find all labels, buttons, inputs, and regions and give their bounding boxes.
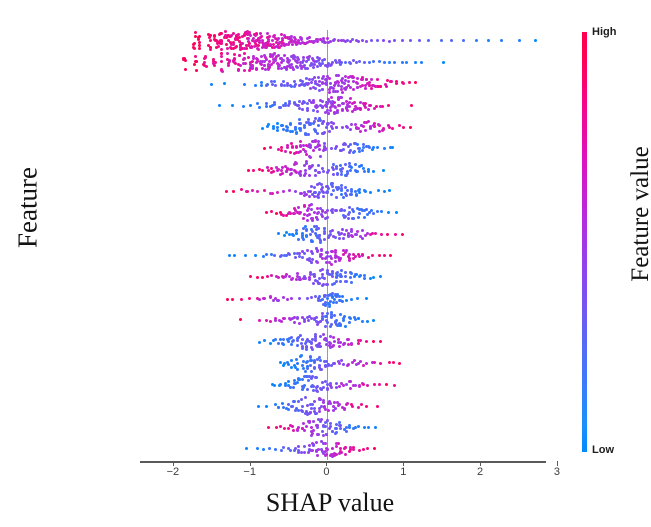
shap-point [308,155,311,158]
shap-point [258,106,261,109]
shap-point [306,214,309,217]
shap-point [258,298,261,301]
shap-point [320,368,323,371]
shap-point [226,298,229,301]
shap-point [389,254,392,257]
shap-point [290,359,293,362]
shap-point [336,80,339,83]
shap-point [343,209,346,212]
shap-point [310,203,313,206]
shap-point [243,83,246,86]
shap-point [355,194,358,197]
shap-point [286,298,289,301]
shap-point [331,345,334,348]
shap-point [344,446,347,449]
shap-point [321,88,324,91]
shap-point [327,363,330,366]
shap-point [265,105,268,108]
shap-point [342,384,345,387]
shap-point [340,173,343,176]
shap-point [388,61,391,64]
shap-point [310,370,313,373]
shap-point [344,453,347,456]
shap-point [335,445,338,448]
shap-point [310,341,313,344]
shap-point [324,337,327,340]
shap-point [301,388,304,391]
shap-point [318,84,321,87]
shap-point [382,169,385,172]
shap-point [243,52,246,55]
shap-point [296,344,299,347]
shap-point [351,235,354,238]
shap-point [350,193,353,196]
shap-point [344,61,347,64]
shap-point [344,271,347,274]
shap-point [290,278,293,281]
shap-point [390,80,393,83]
shap-point [314,87,317,90]
shap-point [268,447,271,450]
shap-point [257,48,260,51]
shap-point [304,370,307,373]
shap-point [291,317,294,320]
shap-point [265,84,268,87]
shap-point [322,399,325,402]
shap-point [228,59,231,62]
shap-point [349,128,352,131]
shap-point [373,361,376,364]
shap-point [316,110,319,113]
shap-point [383,254,386,257]
shap-point [335,167,338,170]
shap-point [340,184,343,187]
x-tick-label: 3 [537,466,577,478]
shap-point [363,216,366,219]
shap-point [329,454,332,457]
shap-point [291,340,294,343]
shap-point [274,319,277,322]
shap-point [349,169,352,172]
shap-point [310,217,313,220]
shap-point [281,124,284,127]
shap-point [282,80,285,83]
shap-point [311,240,314,243]
shap-point [348,321,351,324]
shap-point [361,149,364,152]
shap-point [362,125,365,128]
shap-point [379,85,382,88]
shap-point [358,212,361,215]
shap-point [263,64,266,67]
shap-point [300,37,303,40]
shap-point [349,387,352,390]
shap-point [333,314,336,317]
shap-point [350,342,353,345]
shap-point [296,362,299,365]
shap-point [342,196,345,199]
shap-point [409,126,412,129]
shap-point [350,123,353,126]
shap-point [372,60,375,63]
shap-point [325,433,328,436]
shap-point [298,297,301,300]
shap-point [313,76,316,79]
shap-point [228,254,231,257]
shap-point [335,280,338,283]
shap-point [261,276,264,279]
shap-point [383,61,386,64]
shap-point [297,445,300,448]
shap-point [374,232,377,235]
shap-point [347,84,350,87]
shap-point [274,338,277,341]
shap-point [301,108,304,111]
shap-point [351,208,354,211]
shap-point [256,276,259,279]
shap-point [356,77,359,80]
shap-point [312,109,315,112]
shap-point [380,210,383,213]
shap-point [305,346,308,349]
shap-point [341,295,344,298]
shap-point [333,401,336,404]
shap-point [220,55,223,58]
shap-point [358,385,361,388]
shap-point [240,298,243,301]
shap-point [361,39,364,42]
shap-point [386,79,389,82]
shap-point [313,400,316,403]
shap-point [303,451,306,454]
shap-point [487,39,490,42]
x-axis-title: SHAP value [180,488,480,518]
shap-point [305,229,308,232]
shap-point [321,268,324,271]
shap-point [386,233,389,236]
shap-point [330,121,333,124]
shap-point [364,129,367,132]
shap-point [309,364,312,367]
shap-point [388,40,391,43]
shap-point [269,320,272,323]
shap-point [220,60,223,63]
shap-point [376,78,379,81]
shap-point [308,444,311,447]
shap-point [320,388,323,391]
shap-point [357,147,360,150]
shap-point [395,211,398,214]
shap-point [314,339,317,342]
shap-point [316,323,319,326]
shap-point [355,233,358,236]
shap-point [310,434,313,437]
shap-point [256,190,259,193]
shap-point [306,388,309,391]
shap-point [309,355,312,358]
shap-point [402,82,405,85]
shap-point [340,359,343,362]
shap-point [265,253,268,256]
shap-point [331,283,334,286]
shap-point [363,426,366,429]
shap-point [379,362,382,365]
shap-point [256,102,259,105]
shap-point [303,205,306,208]
shap-point [233,58,236,61]
shap-point [192,43,195,46]
shap-point [330,193,333,196]
shap-point [333,38,336,41]
shap-point [269,342,272,345]
shap-point [294,190,297,193]
shap-point [303,445,306,448]
shap-point [365,340,368,343]
shap-point [370,209,373,212]
shap-point [398,362,401,365]
shap-point [328,91,331,94]
shap-point [339,313,342,316]
shap-point [355,363,358,366]
shap-point [349,380,352,383]
shap-point [373,383,376,386]
shap-point [310,377,313,380]
shap-point [301,405,304,408]
shap-point [311,403,314,406]
shap-point [194,55,197,58]
shap-point [287,212,290,215]
shap-point [323,58,326,61]
shap-point [408,81,411,84]
shap-point [282,59,285,62]
shap-point [312,444,315,447]
shap-point [323,238,326,241]
shap-point [303,126,306,129]
shap-point [339,447,342,450]
shap-point [338,424,341,427]
shap-point [283,317,286,320]
shap-point [310,261,313,264]
shap-point [321,186,324,189]
shap-point [364,234,367,237]
shap-point [315,441,318,444]
shap-point [265,405,268,408]
shap-point [382,128,385,131]
shap-point [300,398,303,401]
shap-point [297,426,300,429]
shap-point [265,319,268,322]
shap-point [267,38,270,41]
shap-point [372,146,375,149]
shap-point [226,47,229,50]
shap-point [365,405,368,408]
x-tick-label: −1 [230,466,270,478]
shap-point [319,155,322,158]
shap-point [318,397,321,400]
shap-point [418,39,421,42]
shap-point [312,273,315,276]
shap-point [277,232,280,235]
shap-point [290,297,293,300]
shap-point [322,170,325,173]
shap-point [275,212,278,215]
shap-point [297,238,300,241]
shap-point [283,54,286,57]
shap-point [500,39,503,42]
shap-point [340,61,343,64]
zero-reference-line [327,30,328,460]
shap-point [277,406,280,409]
shap-point [220,39,223,42]
shap-point [248,297,251,300]
shap-point [367,426,370,429]
shap-point [345,299,348,302]
shap-point [356,143,359,146]
shap-point [379,275,382,278]
shap-point [346,109,349,112]
shap-point [339,324,342,327]
shap-point [365,78,368,81]
shap-point [260,84,263,87]
shap-point [379,340,382,343]
shap-point [320,249,323,252]
shap-point [312,66,315,69]
shap-point [318,410,321,413]
shap-point [310,449,313,452]
shap-point [227,64,230,67]
shap-point [314,174,317,177]
shap-point [282,214,285,217]
shap-point [288,100,291,103]
shap-point [296,368,299,371]
shap-point [316,390,319,393]
shap-point [323,230,326,233]
shap-point [353,142,356,145]
shap-point [312,420,315,423]
shap-point [302,217,305,220]
colorbar-title: Feature value [627,129,651,299]
shap-point [319,207,322,210]
shap-point [302,238,305,241]
shap-point [315,260,318,263]
shap-point [274,84,277,87]
shap-point [332,336,335,339]
shap-point [358,60,361,63]
shap-point [335,126,338,129]
shap-point [367,170,370,173]
shap-point [328,130,331,133]
shap-point [282,406,285,409]
shap-point [320,253,323,256]
shap-point [373,107,376,110]
shap-point [414,81,417,84]
shap-point [318,144,321,147]
shap-point [295,407,298,410]
shap-point [328,77,331,80]
shap-point [237,68,240,71]
shap-point [329,425,332,428]
shap-point [258,319,261,322]
shap-point [303,252,306,255]
shap-point [203,64,206,67]
shap-point [341,126,344,129]
shap-point [263,339,266,342]
shap-point [326,191,329,194]
shap-point [336,111,339,114]
shap-point [318,345,321,348]
shap-point [184,59,187,62]
shap-point [203,61,206,64]
shap-point [331,447,334,450]
shap-point [282,343,285,346]
shap-point [317,164,320,167]
shap-point [209,48,212,51]
shap-point [317,171,320,174]
x-tick-label: 0 [306,466,346,478]
shap-point [332,189,335,192]
shap-point [289,122,292,125]
shap-point [301,338,304,341]
shap-point [384,83,387,86]
shap-point [184,68,187,71]
shap-point [220,42,223,45]
shap-point [210,83,213,86]
shap-point [249,104,252,107]
shap-point [270,171,273,174]
shap-point [299,140,302,143]
shap-point [342,343,345,346]
shap-point [370,39,373,42]
shap-point [383,147,386,150]
shap-point [301,316,304,319]
shap-point [343,428,346,431]
shap-point [330,257,333,260]
shap-point [247,169,250,172]
shap-point [318,148,321,151]
shap-point [327,409,330,412]
shap-point [307,133,310,136]
shap-point [333,101,336,104]
shap-point [281,172,284,175]
shap-point [330,386,333,389]
shap-point [295,146,298,149]
shap-point [279,106,282,109]
shap-point [345,125,348,128]
shap-point [350,298,353,301]
shap-point [298,118,301,121]
shap-point [327,112,330,115]
shap-point [283,234,286,237]
shap-point [231,298,234,301]
shap-point [306,297,309,300]
shap-point [279,361,282,364]
shap-point [325,261,328,264]
shap-point [377,123,380,126]
shap-point [308,174,311,177]
shap-point [357,216,360,219]
shap-point [291,405,294,408]
shap-point [354,163,357,166]
shap-point [317,433,320,436]
shap-point [360,403,363,406]
shap-point [270,210,273,213]
shap-point [347,213,350,216]
shap-point [254,254,257,257]
shap-point [282,446,285,449]
shap-point [339,280,342,283]
shap-point [380,233,383,236]
shap-point [331,182,334,185]
